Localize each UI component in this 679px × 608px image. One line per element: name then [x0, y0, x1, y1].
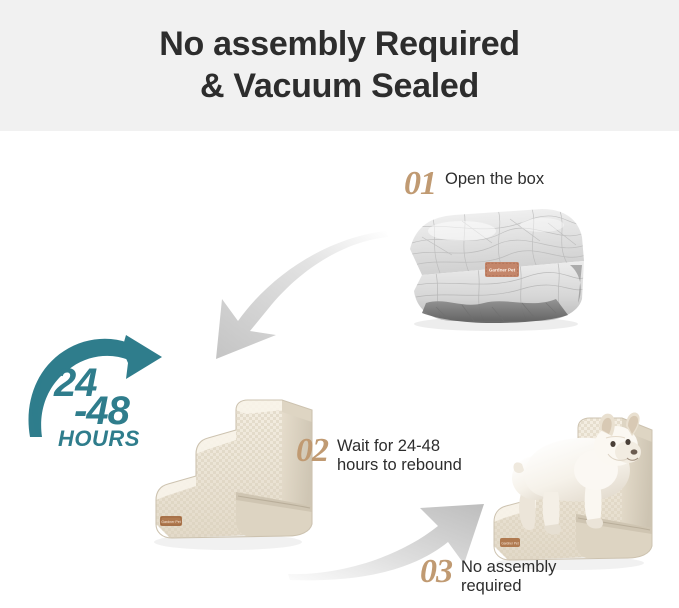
rebound-arrow-icon — [22, 333, 182, 457]
french-bulldog-on-stairs: Gardner Pet — [488, 406, 673, 576]
infographic-canvas: Gardner Pet — [0, 131, 679, 608]
step-01-text: Open the box — [445, 167, 544, 189]
vacuum-sealed-package: Gardner Pet — [392, 203, 592, 340]
stairs-brand-tag: Gardner Pet — [160, 516, 182, 526]
page-title: No assembly Required & Vacuum Sealed — [159, 24, 520, 107]
dog-stairs-brand-tag: Gardner Pet — [500, 538, 520, 547]
step-01-number: 01 — [404, 167, 436, 201]
step-03-text: No assembly required — [461, 555, 556, 597]
svg-text:Gardner Pet: Gardner Pet — [161, 520, 181, 524]
step-02-number: 02 — [296, 434, 328, 468]
package-brand-label: Gardner Pet — [485, 262, 519, 277]
svg-text:Gardner Pet: Gardner Pet — [501, 541, 518, 545]
step-02: 02 Wait for 24-48 hours to rebound — [296, 434, 462, 476]
header-band: No assembly Required & Vacuum Sealed — [0, 0, 679, 131]
step-02-text: Wait for 24-48 hours to rebound — [337, 434, 462, 476]
rebound-time-badge: 24 -48 HOURS — [22, 333, 182, 457]
svg-text:Gardner Pet: Gardner Pet — [489, 268, 516, 273]
step-01: 01 Open the box — [404, 167, 544, 201]
step-03-number: 03 — [420, 555, 452, 589]
arrow-step1-to-step2 — [180, 231, 390, 366]
step-03: 03 No assembly required — [420, 555, 556, 597]
